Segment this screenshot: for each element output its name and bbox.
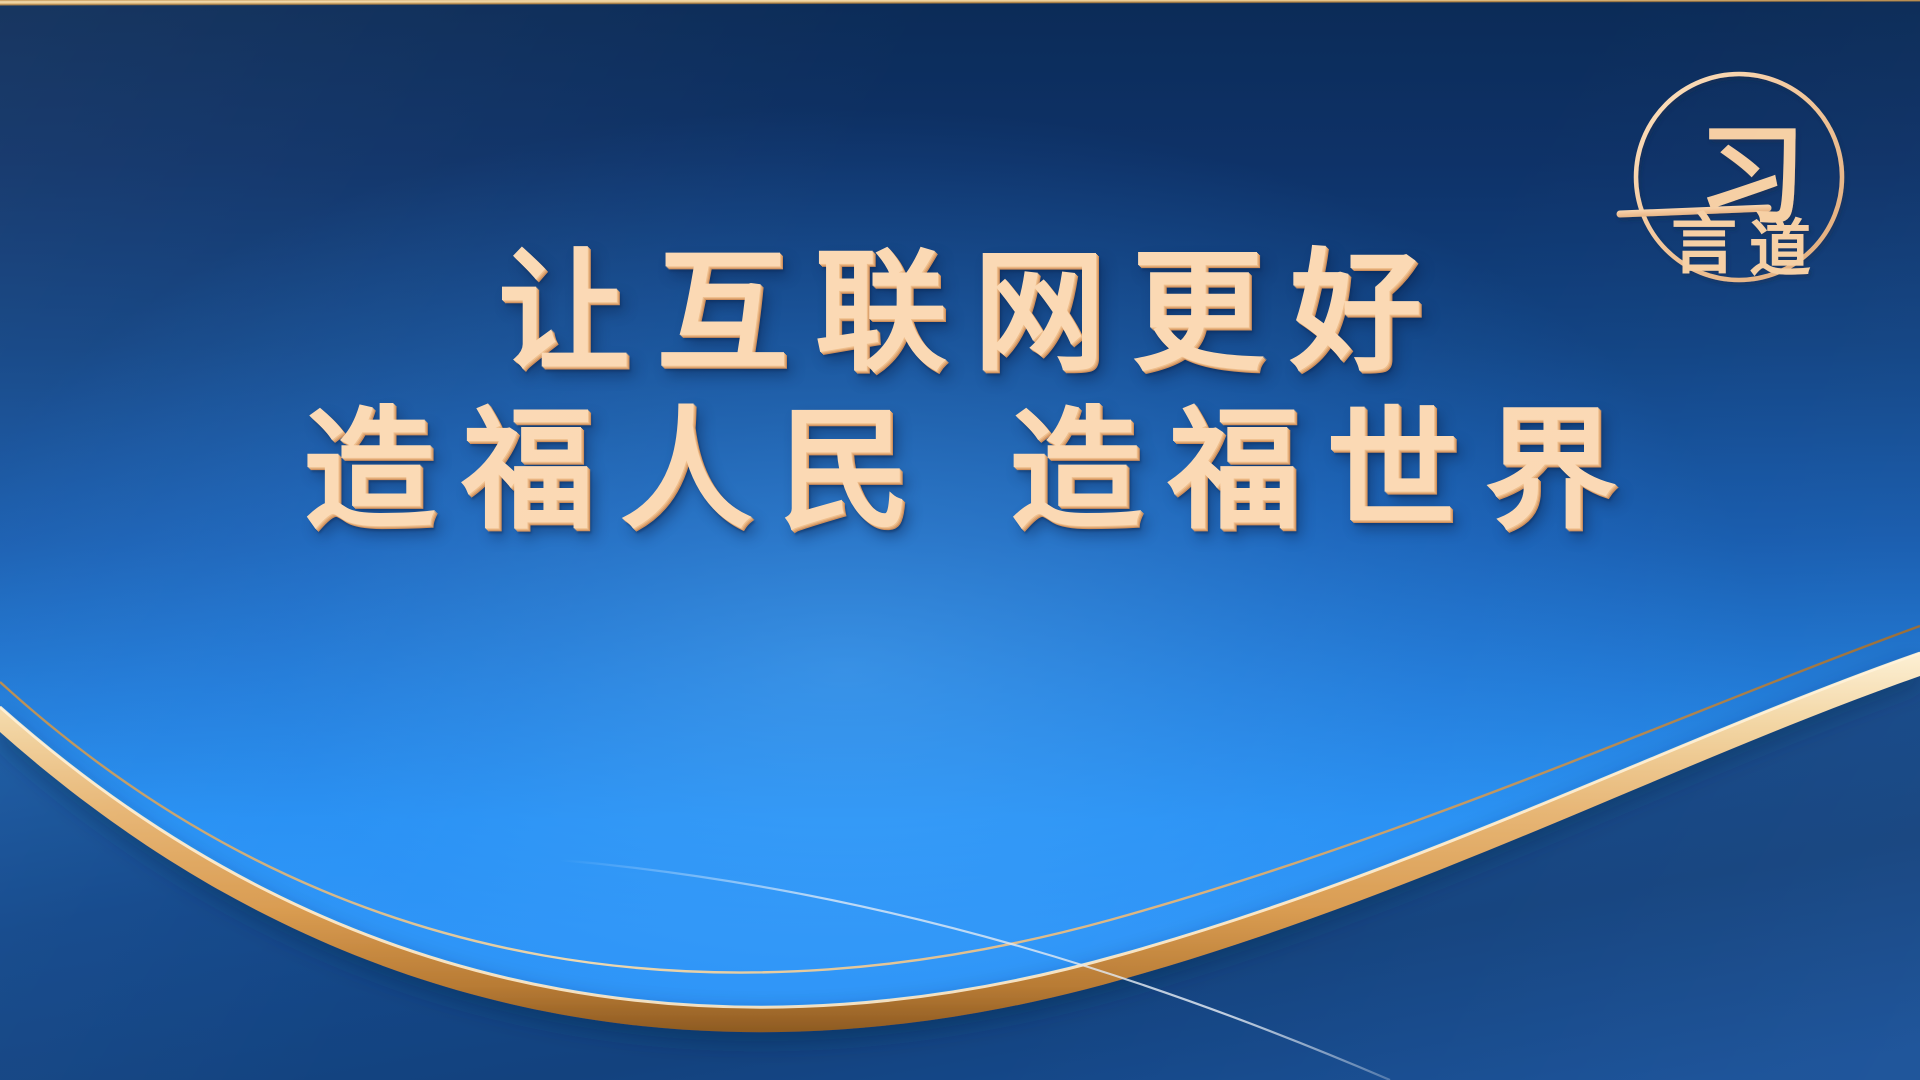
seal-char-dao: 道: [1749, 215, 1811, 284]
headline-line-2-part-1: 造福人民: [303, 398, 937, 545]
program-logo-seal[interactable]: 习 言 道: [1618, 56, 1860, 298]
bottom-wave-decoration: [0, 560, 1920, 1080]
headline-line-2: 造福人民造福世界: [0, 406, 1920, 538]
seal-char-yan: 言: [1671, 209, 1737, 282]
headline-line-2-part-2: 造福世界: [1009, 398, 1643, 545]
poster-canvas: 让互联网更好 造福人民造福世界 习: [0, 0, 1920, 1080]
wave-lower-fill: [0, 656, 1920, 1080]
